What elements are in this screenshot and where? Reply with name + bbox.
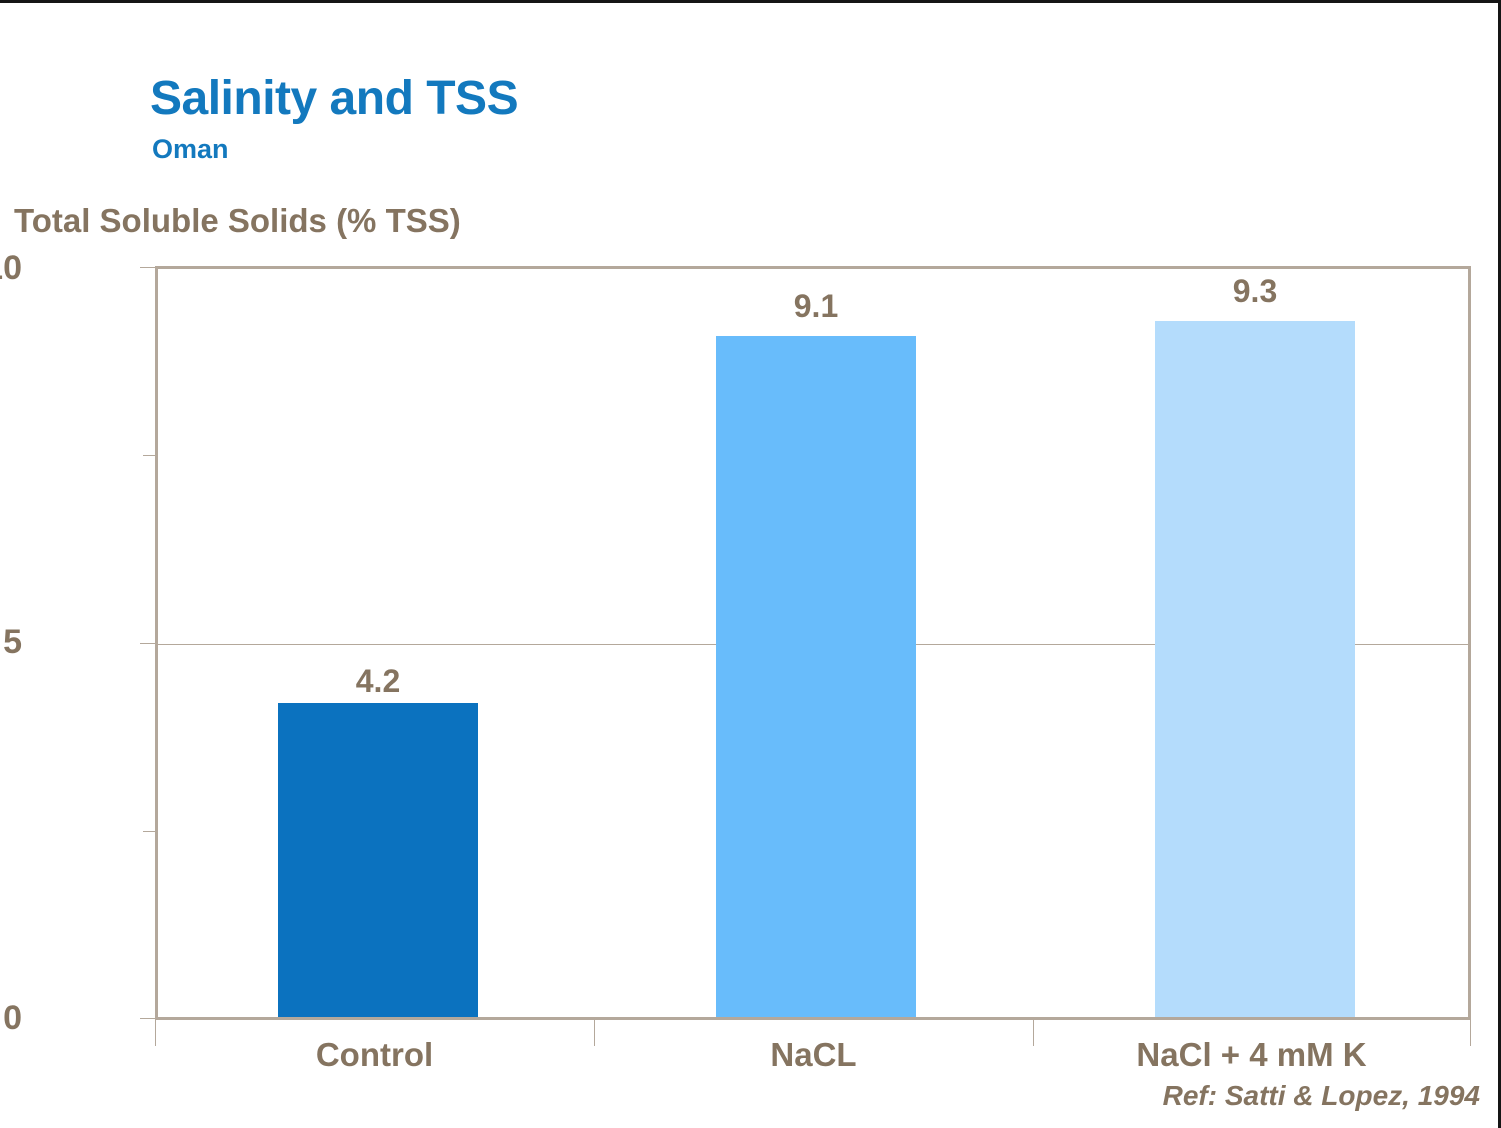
bar-nacl[interactable] [716, 336, 916, 1017]
x-category-label-nacl-plus-k: NaCl + 4 mM K [1033, 1036, 1470, 1074]
reference-citation: Ref: Satti & Lopez, 1994 [1163, 1080, 1480, 1112]
x-category-label-nacl: NaCL [594, 1036, 1033, 1074]
bar-value-control: 4.2 [278, 663, 478, 700]
plot-area [155, 266, 1471, 1020]
bar-control[interactable] [278, 703, 478, 1017]
y-tick-label-5: 5 [3, 623, 22, 662]
plot-inner [158, 269, 1468, 1017]
bar-value-nacl: 9.1 [716, 288, 916, 325]
y-tick-mark-7-5 [143, 455, 155, 456]
bar-value-nacl-plus-k: 9.3 [1155, 273, 1355, 310]
y-tick-label-0: 0 [3, 999, 22, 1038]
x-category-label-control: Control [155, 1036, 594, 1074]
y-tick-label-10: 10 [0, 249, 22, 288]
slide-canvas: Salinity and TSS Oman Total Soluble Soli… [0, 0, 1501, 1128]
page-title: Salinity and TSS [150, 71, 518, 126]
y-tick-mark-2-5 [143, 831, 155, 832]
bar-nacl-plus-k[interactable] [1155, 321, 1355, 1017]
page-subtitle: Oman [152, 134, 229, 165]
y-axis-title: Total Soluble Solids (% TSS) [14, 202, 461, 240]
category-separator-1 [596, 269, 597, 1017]
category-separator-2 [1035, 269, 1036, 1017]
x-axis-tick-end [1470, 1020, 1471, 1046]
